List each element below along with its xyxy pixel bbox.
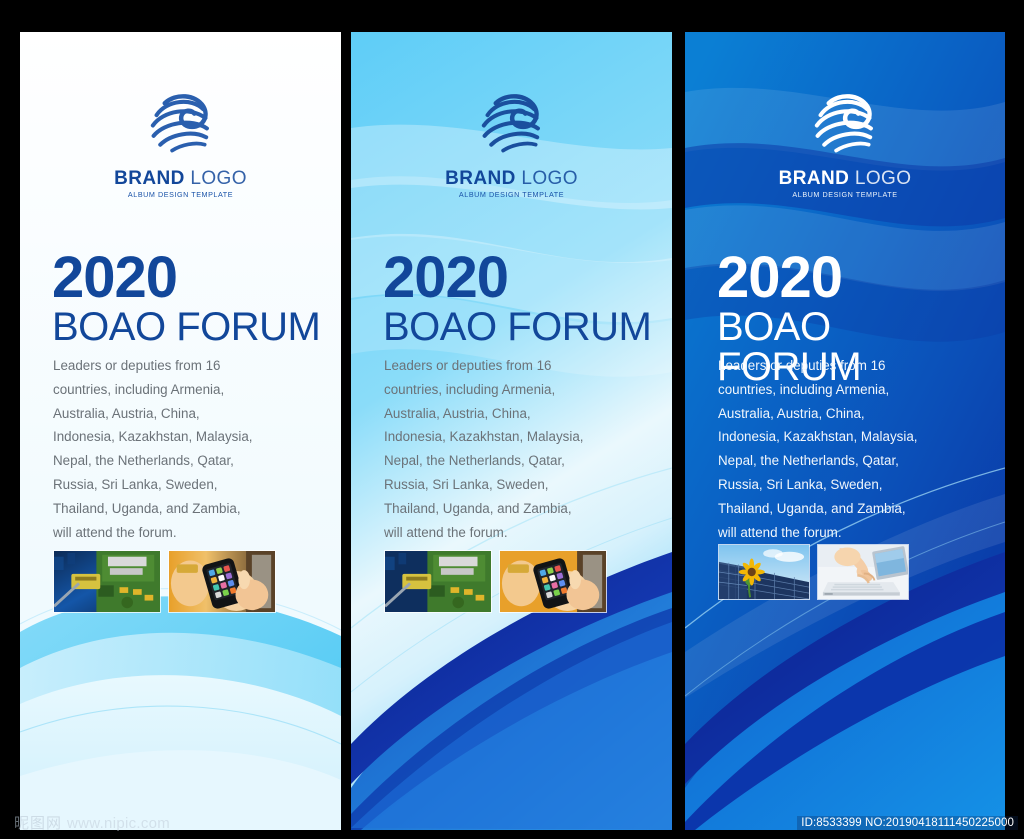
body-line: Leaders or deputies from 16: [384, 354, 646, 378]
photo-hand-on-laptop[interactable]: [817, 544, 909, 600]
body-line: Thailand, Uganda, and Zambia,: [384, 497, 646, 521]
globe-swirl-logo-icon: [475, 84, 549, 158]
panel-content-dark-blue: BRAND LOGO ALBUM DESIGN TEMPLATE 2020 BO…: [685, 32, 1005, 830]
brand-logo-name: BRAND LOGO: [20, 169, 341, 188]
photo-strip: [384, 550, 607, 613]
body-line: Indonesia, Kazakhstan, Malaysia,: [718, 425, 979, 449]
banner-canvas: BRAND LOGO ALBUM DESIGN TEMPLATE 2020 BO…: [0, 0, 1024, 839]
brand-name-bold: BRAND: [779, 168, 850, 189]
watermark-url: www.nipic.com: [67, 816, 170, 831]
headline-block: 2020 BOAO FORUM: [383, 250, 652, 347]
panel-content-white: BRAND LOGO ALBUM DESIGN TEMPLATE 2020 BO…: [20, 32, 341, 830]
brand-name-bold: BRAND: [445, 168, 516, 189]
brand-logo-block[interactable]: BRAND LOGO ALBUM DESIGN TEMPLATE: [685, 84, 1005, 198]
body-copy: Leaders or deputies from 16 countries, i…: [718, 354, 979, 544]
brand-logo-name: BRAND LOGO: [685, 169, 1005, 188]
brand-name-light: LOGO: [521, 168, 578, 189]
brand-name-bold: BRAND: [114, 168, 185, 189]
brand-logo-name: BRAND LOGO: [351, 169, 672, 188]
body-line: Nepal, the Netherlands, Qatar,: [718, 449, 979, 473]
photo-smartphone-in-hand[interactable]: [499, 550, 607, 613]
brand-logo-block[interactable]: BRAND LOGO ALBUM DESIGN TEMPLATE: [351, 84, 672, 198]
body-line: Nepal, the Netherlands, Qatar,: [53, 449, 315, 473]
body-line: countries, including Armenia,: [53, 378, 315, 402]
headline-year: 2020: [52, 250, 321, 305]
photo-solar-panels-sunflower[interactable]: [718, 544, 810, 600]
body-line: Indonesia, Kazakhstan, Malaysia,: [384, 425, 646, 449]
brand-tagline: ALBUM DESIGN TEMPLATE: [685, 191, 1005, 198]
image-id-badge: ID:8533399 NO:20190418111450225000: [797, 816, 1018, 830]
brand-tagline: ALBUM DESIGN TEMPLATE: [351, 191, 672, 198]
banner-panel-light-blue[interactable]: BRAND LOGO ALBUM DESIGN TEMPLATE 2020 BO…: [351, 32, 672, 830]
panel-content-light-blue: BRAND LOGO ALBUM DESIGN TEMPLATE 2020 BO…: [351, 32, 672, 830]
headline-title: BOAO FORUM: [52, 307, 321, 347]
body-line: Thailand, Uganda, and Zambia,: [53, 497, 315, 521]
headline-year: 2020: [717, 250, 985, 305]
brand-tagline: ALBUM DESIGN TEMPLATE: [20, 191, 341, 198]
body-line: Australia, Austria, China,: [718, 402, 979, 426]
photo-circuit-board[interactable]: [384, 550, 492, 613]
body-line: will attend the forum.: [53, 521, 315, 545]
globe-swirl-logo-icon: [808, 84, 882, 158]
brand-logo-block[interactable]: BRAND LOGO ALBUM DESIGN TEMPLATE: [20, 84, 341, 198]
body-line: will attend the forum.: [718, 521, 979, 545]
body-line: countries, including Armenia,: [384, 378, 646, 402]
photo-smartphone-in-hand[interactable]: [168, 550, 276, 613]
banner-panel-dark-blue[interactable]: BRAND LOGO ALBUM DESIGN TEMPLATE 2020 BO…: [685, 32, 1005, 830]
photo-strip: [718, 544, 909, 600]
photo-strip: [53, 550, 276, 613]
body-line: Thailand, Uganda, and Zambia,: [718, 497, 979, 521]
headline-block: 2020 BOAO FORUM: [52, 250, 321, 347]
watermark-logo-text: 昵图网: [14, 816, 62, 831]
headline-year: 2020: [383, 250, 652, 305]
nipic-watermark: 昵图网 www.nipic.com: [14, 816, 170, 831]
body-line: Australia, Austria, China,: [384, 402, 646, 426]
photo-circuit-board[interactable]: [53, 550, 161, 613]
body-line: Russia, Sri Lanka, Sweden,: [53, 473, 315, 497]
body-line: Russia, Sri Lanka, Sweden,: [718, 473, 979, 497]
body-line: Nepal, the Netherlands, Qatar,: [384, 449, 646, 473]
body-copy: Leaders or deputies from 16 countries, i…: [53, 354, 315, 544]
body-line: Leaders or deputies from 16: [718, 354, 979, 378]
body-line: Australia, Austria, China,: [53, 402, 315, 426]
body-copy: Leaders or deputies from 16 countries, i…: [384, 354, 646, 544]
headline-title: BOAO FORUM: [383, 307, 652, 347]
banner-panel-white[interactable]: BRAND LOGO ALBUM DESIGN TEMPLATE 2020 BO…: [20, 32, 341, 830]
body-line: will attend the forum.: [384, 521, 646, 545]
body-line: countries, including Armenia,: [718, 378, 979, 402]
body-line: Russia, Sri Lanka, Sweden,: [384, 473, 646, 497]
body-line: Leaders or deputies from 16: [53, 354, 315, 378]
brand-name-light: LOGO: [855, 168, 912, 189]
brand-name-light: LOGO: [190, 168, 247, 189]
body-line: Indonesia, Kazakhstan, Malaysia,: [53, 425, 315, 449]
globe-swirl-logo-icon: [144, 84, 218, 158]
